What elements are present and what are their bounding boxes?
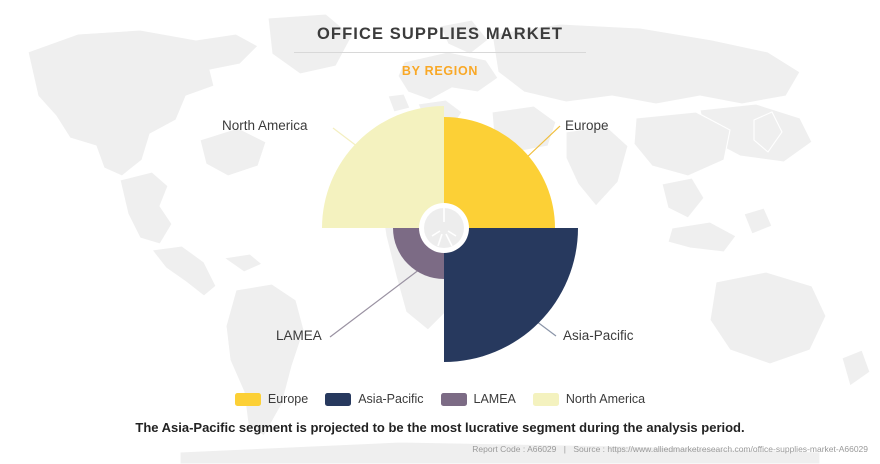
pie-slice-asia-pacific[interactable]	[444, 228, 578, 362]
legend-swatch-europe	[235, 393, 261, 406]
callout-label-asia-pacific: Asia-Pacific	[563, 328, 634, 343]
chart-footer: Report Code : A66029 | Source : https://…	[472, 444, 868, 454]
callout-label-europe: Europe	[565, 118, 609, 133]
footer-separator: |	[564, 444, 566, 454]
legend-swatch-north-america	[533, 393, 559, 406]
infographic-canvas: OFFICE SUPPLIES MARKET BY REGION	[0, 0, 880, 464]
legend-swatch-asia-pacific	[325, 393, 351, 406]
legend-label-asia-pacific: Asia-Pacific	[358, 392, 423, 406]
report-code: Report Code : A66029	[472, 444, 556, 454]
page-title: OFFICE SUPPLIES MARKET	[0, 24, 880, 44]
legend-label-lamea: LAMEA	[474, 392, 516, 406]
legend-label-north-america: North America	[566, 392, 645, 406]
pie-slice-north-america[interactable]	[322, 106, 444, 228]
legend-item-lamea[interactable]: LAMEA	[441, 392, 516, 406]
chart-header: OFFICE SUPPLIES MARKET BY REGION	[0, 24, 880, 78]
legend-item-north-america[interactable]: North America	[533, 392, 645, 406]
source-link[interactable]: Source : https://www.alliedmarketresearc…	[573, 444, 868, 454]
callout-label-lamea: LAMEA	[276, 328, 322, 343]
legend-item-europe[interactable]: Europe	[235, 392, 308, 406]
chart-caption: The Asia-Pacific segment is projected to…	[0, 420, 880, 435]
chart-subtitle: BY REGION	[0, 64, 880, 78]
leader-line-europe	[524, 126, 560, 160]
legend-item-asia-pacific[interactable]: Asia-Pacific	[325, 392, 423, 406]
leader-line-lamea	[330, 266, 424, 337]
legend-label-europe: Europe	[268, 392, 308, 406]
callout-label-north-america: North America	[222, 118, 308, 133]
legend-swatch-lamea	[441, 393, 467, 406]
chart-legend: Europe Asia-Pacific LAMEA North America	[0, 392, 880, 406]
title-divider	[294, 52, 586, 53]
